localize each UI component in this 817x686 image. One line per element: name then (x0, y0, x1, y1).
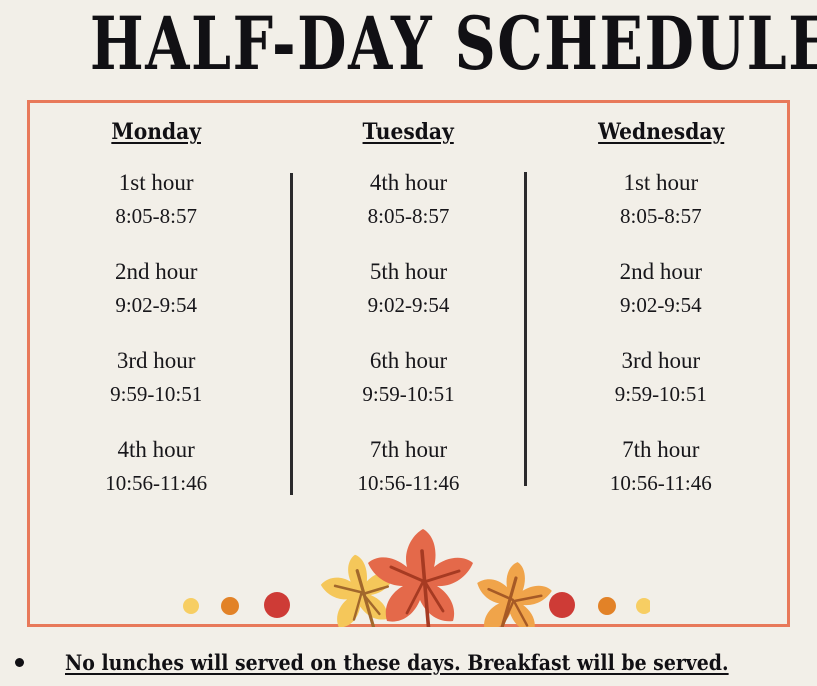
schedule-columns: Monday 1st hour 8:05-8:57 2nd hour 9:02-… (30, 100, 787, 520)
footer-note-text: No lunches will served on these days. Br… (65, 650, 729, 676)
slot-time: 9:59-10:51 (535, 378, 787, 410)
column-divider-1 (290, 173, 293, 495)
slot-item: 4th hour 10:56-11:46 (30, 433, 282, 499)
slot-name: 7th hour (535, 433, 787, 467)
slot-item: 1st hour 8:05-8:57 (30, 166, 282, 232)
slot-time: 9:59-10:51 (282, 378, 534, 410)
footer-note: No lunches will served on these days. Br… (0, 639, 817, 686)
slot-time: 10:56-11:46 (535, 467, 787, 499)
slot-item: 1st hour 8:05-8:57 (535, 166, 787, 232)
slot-name: 3rd hour (535, 344, 787, 378)
dot-orange-left (221, 597, 239, 615)
page-title: HALF-DAY SCHEDULE (90, 4, 727, 84)
slot-time: 8:05-8:57 (30, 200, 282, 232)
orange-maple-leaf-icon (471, 558, 555, 627)
day-column-monday: Monday 1st hour 8:05-8:57 2nd hour 9:02-… (30, 100, 282, 520)
bullet-icon (15, 658, 24, 667)
autumn-leaf-ornament (180, 527, 650, 627)
day-header-monday: Monday (40, 119, 272, 145)
slot-list-monday: 1st hour 8:05-8:57 2nd hour 9:02-9:54 3r… (30, 166, 282, 499)
day-header-tuesday: Tuesday (292, 119, 524, 145)
slot-time: 8:05-8:57 (282, 200, 534, 232)
dot-orange-right (598, 597, 616, 615)
slot-name: 6th hour (282, 344, 534, 378)
slot-name: 1st hour (535, 166, 787, 200)
slot-time: 10:56-11:46 (282, 467, 534, 499)
slot-name: 2nd hour (535, 255, 787, 289)
slot-item: 6th hour 9:59-10:51 (282, 344, 534, 410)
dot-red-right (549, 592, 575, 618)
slot-item: 3rd hour 9:59-10:51 (535, 344, 787, 410)
slot-item: 7th hour 10:56-11:46 (535, 433, 787, 499)
slot-time: 9:02-9:54 (282, 289, 534, 321)
slot-list-tuesday: 4th hour 8:05-8:57 5th hour 9:02-9:54 6t… (282, 166, 534, 499)
day-column-tuesday: Tuesday 4th hour 8:05-8:57 5th hour 9:02… (282, 100, 534, 520)
slot-name: 4th hour (30, 433, 282, 467)
slot-time: 9:59-10:51 (30, 378, 282, 410)
slot-name: 3rd hour (30, 344, 282, 378)
slot-time: 8:05-8:57 (535, 200, 787, 232)
day-column-wednesday: Wednesday 1st hour 8:05-8:57 2nd hour 9:… (535, 100, 787, 520)
dot-red-left (264, 592, 290, 618)
column-divider-2 (524, 172, 527, 486)
slot-name: 4th hour (282, 166, 534, 200)
slot-name: 5th hour (282, 255, 534, 289)
slot-item: 4th hour 8:05-8:57 (282, 166, 534, 232)
slot-time: 10:56-11:46 (30, 467, 282, 499)
slot-name: 7th hour (282, 433, 534, 467)
day-header-wednesday: Wednesday (545, 119, 777, 145)
slot-name: 2nd hour (30, 255, 282, 289)
dot-yellow-right (636, 598, 650, 614)
slot-item: 2nd hour 9:02-9:54 (535, 255, 787, 321)
slot-item: 5th hour 9:02-9:54 (282, 255, 534, 321)
slot-time: 9:02-9:54 (535, 289, 787, 321)
slot-list-wednesday: 1st hour 8:05-8:57 2nd hour 9:02-9:54 3r… (535, 166, 787, 499)
slot-item: 3rd hour 9:59-10:51 (30, 344, 282, 410)
slot-time: 9:02-9:54 (30, 289, 282, 321)
slot-name: 1st hour (30, 166, 282, 200)
slot-item: 7th hour 10:56-11:46 (282, 433, 534, 499)
slot-item: 2nd hour 9:02-9:54 (30, 255, 282, 321)
dot-yellow-left (183, 598, 199, 614)
